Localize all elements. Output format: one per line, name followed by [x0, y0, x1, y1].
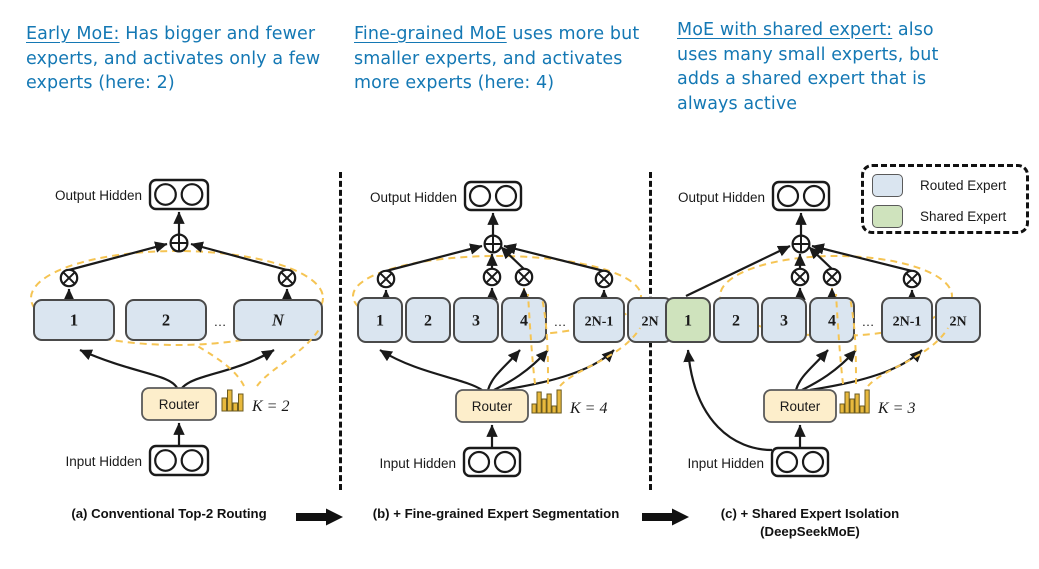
- expert-label-b-2N: 2N: [641, 315, 658, 330]
- expert-label-c-1: 1: [684, 313, 692, 330]
- router-label-a: Router: [159, 397, 200, 412]
- output-hidden-box-c: [773, 182, 829, 210]
- expert-label-c-4: 4: [828, 313, 836, 330]
- annotation-lead-b: Fine-grained MoE: [354, 24, 507, 44]
- input-hidden-label-c: Input Hidden: [687, 456, 764, 471]
- expert-box-c-2N-1: 2N-1: [882, 298, 932, 342]
- multiply-node-b-1: [378, 271, 394, 287]
- diagram-panel-a: Output Hidden 1 2 … N: [22, 178, 334, 478]
- router-box-a: Router: [142, 388, 216, 420]
- expert-box-a-2: 2: [126, 300, 206, 340]
- router-label-c: Router: [780, 399, 821, 414]
- sum-node-c: [793, 236, 810, 253]
- expert-label-a-1: 1: [70, 311, 78, 330]
- router-weights-bar-icon-c: [840, 390, 869, 413]
- multiply-node-a-1: [61, 270, 77, 286]
- caption-panel-a: (a) Conventional Top-2 Routing: [46, 505, 292, 523]
- router-weights-bar-icon-b: [532, 390, 561, 413]
- output-hidden-box-a: [150, 180, 208, 209]
- multiply-node-b-2N: [596, 271, 612, 287]
- output-hidden-label-a: Output Hidden: [55, 188, 142, 203]
- multiply-node-b-4: [484, 269, 500, 285]
- sum-node-a: [171, 235, 188, 252]
- k-value-label-b: K = 4: [569, 400, 607, 417]
- flow-arrow-1-icon: [296, 508, 344, 526]
- k-value-label-a: K = 2: [251, 398, 289, 415]
- expert-label-c-2N: 2N: [949, 315, 966, 330]
- expert-label-c-3: 3: [780, 313, 788, 330]
- expert-label-b-2N-1: 2N-1: [585, 315, 614, 330]
- diagram-panel-c: Output Hidden 1 2 3 4: [660, 178, 960, 478]
- expert-label-b-3: 3: [472, 313, 480, 330]
- caption-panel-c-line2: (DeepSeekMoE): [660, 523, 960, 541]
- input-hidden-box-c: [772, 448, 828, 476]
- expert-box-c-2: 2: [714, 298, 758, 342]
- output-hidden-box-b: [465, 182, 521, 210]
- expert-box-a-N: N: [234, 300, 322, 340]
- multiply-node-c-2N: [904, 271, 920, 287]
- multiply-node-b-dots: [516, 269, 532, 285]
- expert-label-c-2: 2: [732, 313, 740, 330]
- caption-panel-c: (c) + Shared Expert Isolation (DeepSeekM…: [660, 505, 960, 541]
- expert-box-b-3: 3: [454, 298, 498, 342]
- expert-box-b-1: 1: [358, 298, 402, 342]
- k-value-label-c: K = 3: [877, 400, 915, 417]
- expert-box-b-2N-1: 2N-1: [574, 298, 624, 342]
- expert-label-b-2: 2: [424, 313, 432, 330]
- expert-box-b-4: 4: [502, 298, 546, 342]
- annotation-early-moe: Early MoE: Has bigger and fewer experts,…: [26, 22, 326, 96]
- router-weights-bar-icon-a: [222, 390, 243, 411]
- multiply-node-c-4: [792, 269, 808, 285]
- router-box-b: Router: [456, 390, 528, 422]
- router-box-c: Router: [764, 390, 836, 422]
- router-label-b: Router: [472, 399, 513, 414]
- multiply-node-a-N: [279, 270, 295, 286]
- input-hidden-label-a: Input Hidden: [65, 454, 142, 469]
- output-hidden-label-c: Output Hidden: [678, 190, 765, 205]
- annotation-lead-a: Early MoE:: [26, 24, 120, 44]
- expert-box-c-4: 4: [810, 298, 854, 342]
- annotation-fine-grained-moe: Fine-grained MoE uses more but smaller e…: [354, 22, 644, 96]
- annotation-lead-c: MoE with shared expert:: [677, 20, 892, 40]
- expert-box-c-1-shared: 1: [666, 298, 710, 342]
- expert-ellipsis-c: …: [862, 314, 875, 329]
- input-hidden-box-b: [464, 448, 520, 476]
- multiply-node-c-dots: [824, 269, 840, 285]
- expert-box-a-1: 1: [34, 300, 114, 340]
- sum-node-b: [485, 236, 502, 253]
- diagram-panel-b: Output Hidden 1 2: [352, 178, 642, 478]
- expert-label-c-2N-1: 2N-1: [893, 315, 922, 330]
- expert-ellipsis-b: …: [554, 314, 567, 329]
- expert-label-b-1: 1: [376, 313, 384, 330]
- caption-panel-c-line1: (c) + Shared Expert Isolation: [660, 505, 960, 523]
- expert-label-a-2: 2: [162, 311, 170, 330]
- expert-box-b-2: 2: [406, 298, 450, 342]
- panel-separator-1: [339, 172, 342, 490]
- expert-label-a-N: N: [271, 311, 285, 330]
- expert-label-b-4: 4: [520, 313, 528, 330]
- output-hidden-label-b: Output Hidden: [370, 190, 457, 205]
- expert-ellipsis-a: …: [214, 314, 227, 329]
- caption-panel-b: (b) + Fine-grained Expert Segmentation: [352, 505, 640, 523]
- expert-box-c-3: 3: [762, 298, 806, 342]
- input-hidden-box-a: [150, 446, 208, 475]
- annotation-shared-expert-moe: MoE with shared expert: also uses many s…: [677, 18, 977, 116]
- input-hidden-label-b: Input Hidden: [379, 456, 456, 471]
